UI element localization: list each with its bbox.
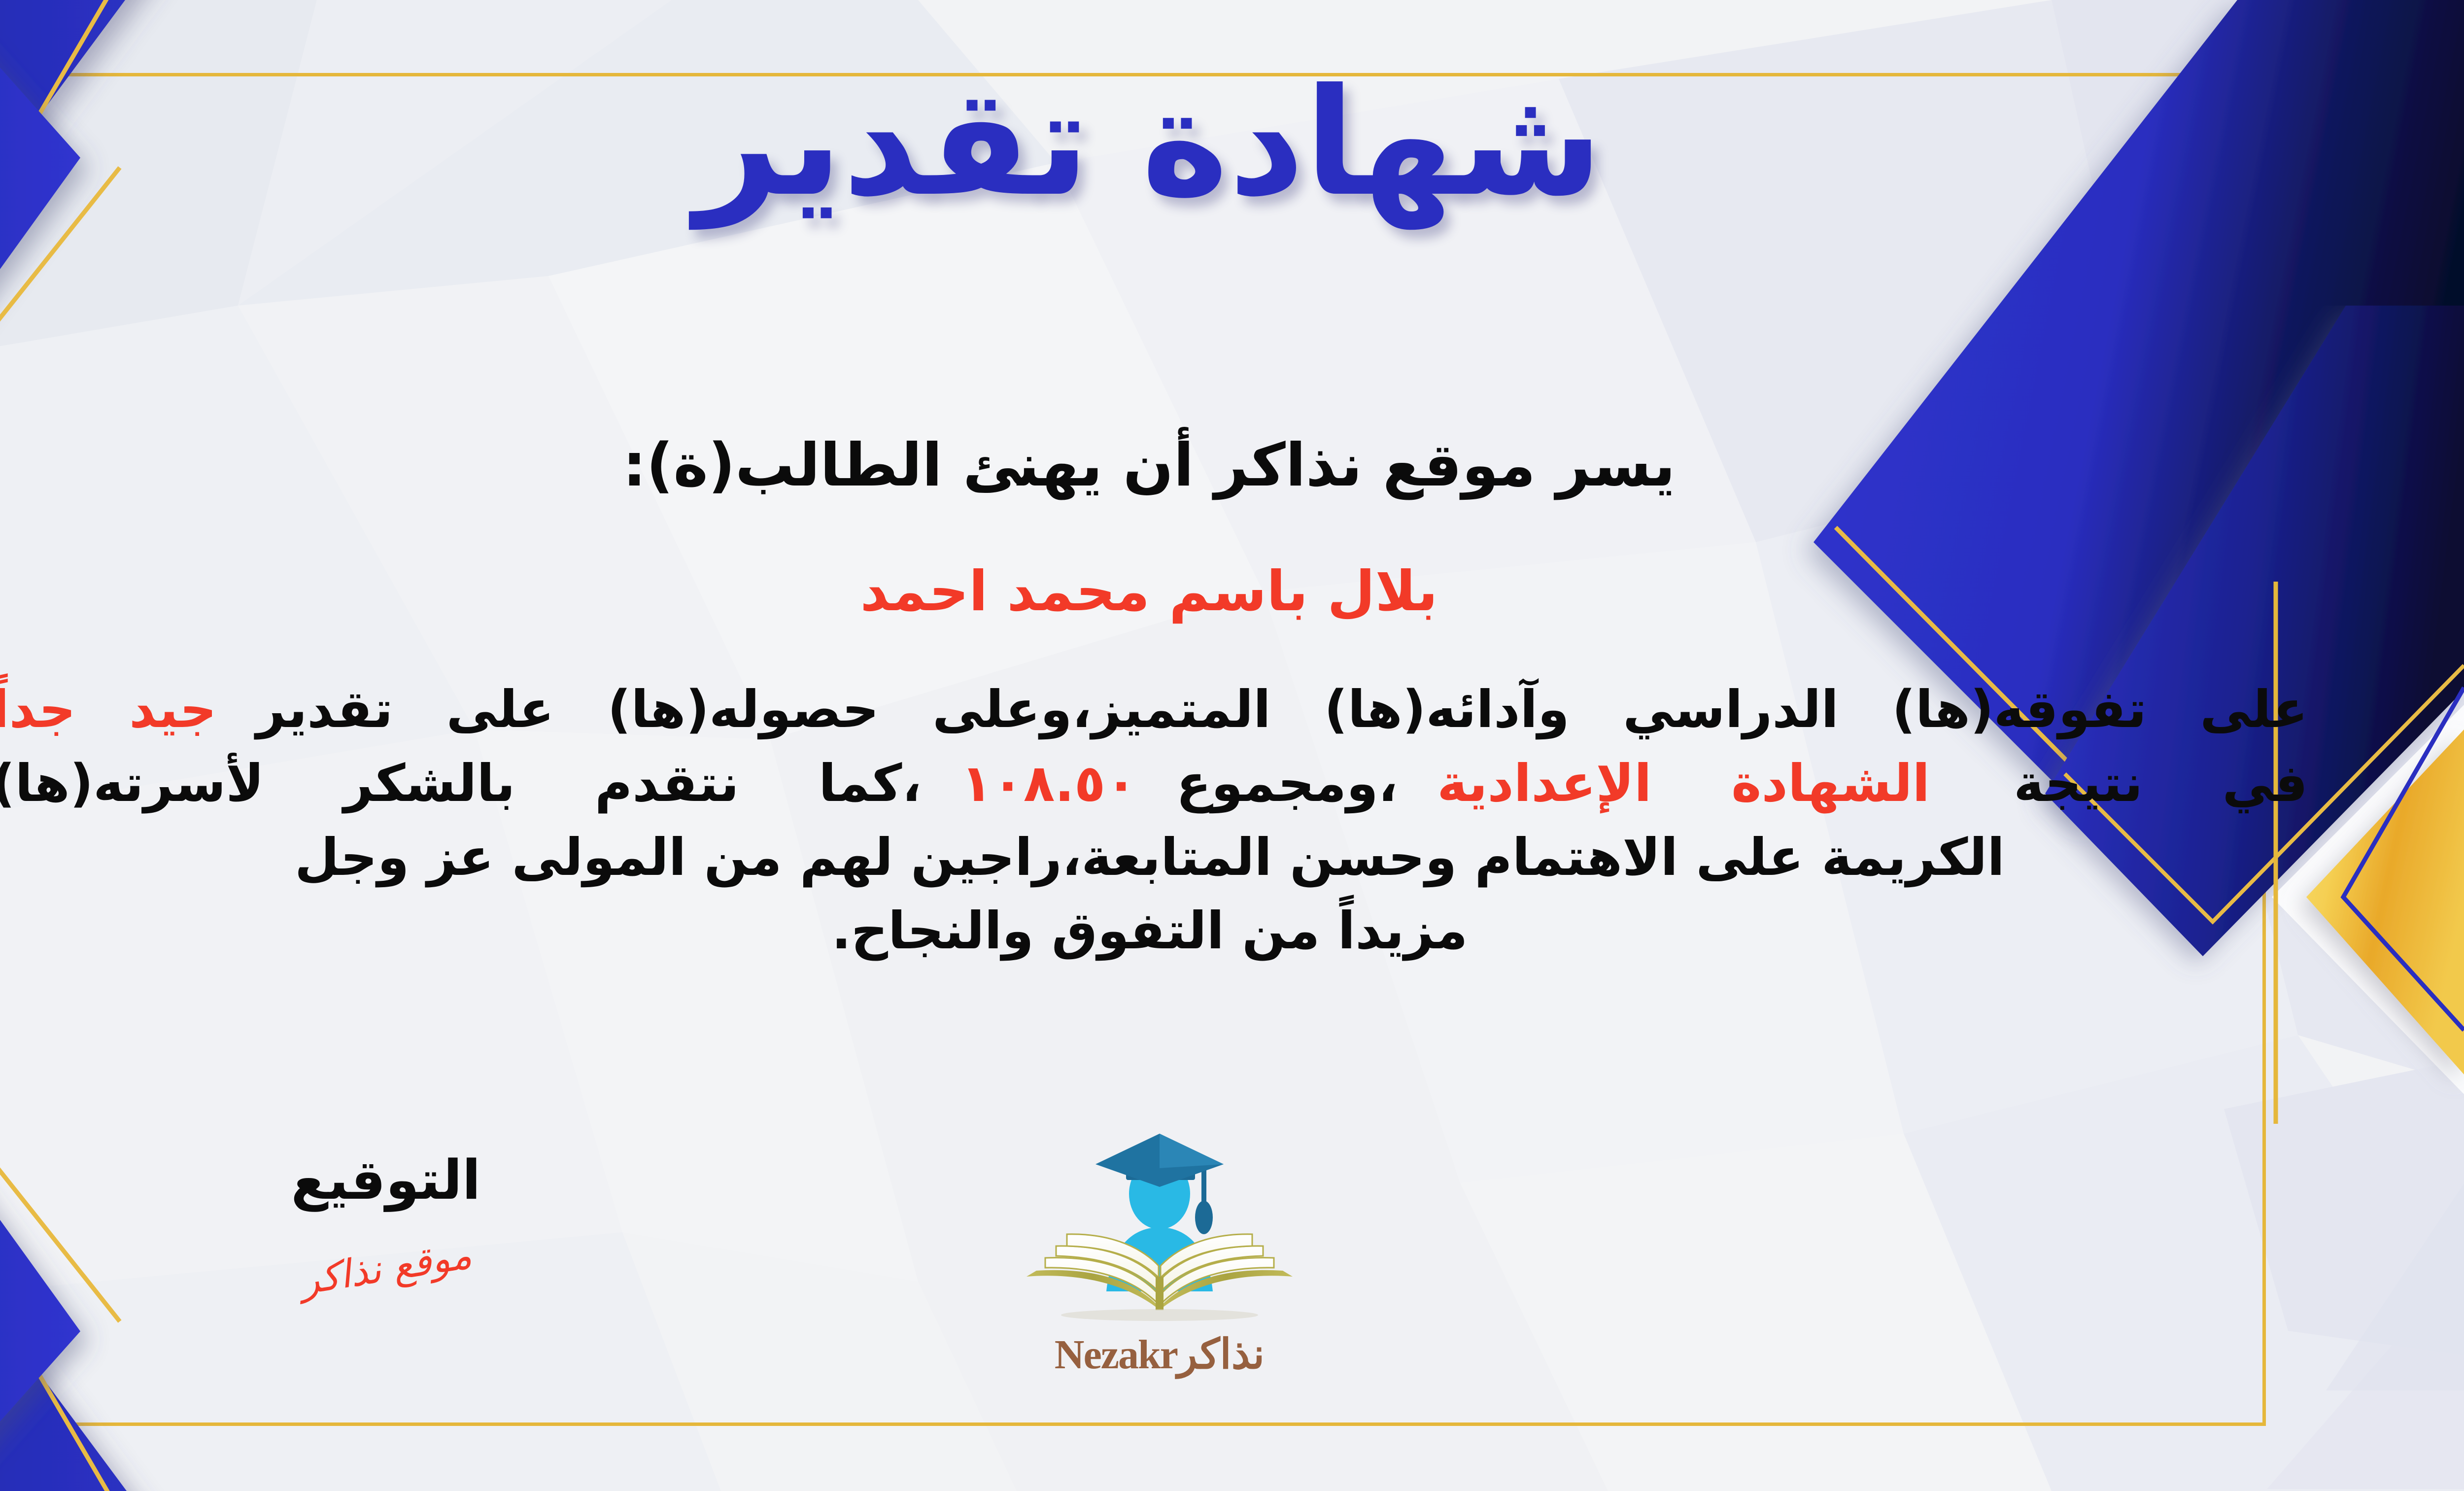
brand-logo-block: نذاكرNezakr xyxy=(962,1129,1357,1379)
brand-wordmark: نذاكرNezakr xyxy=(962,1330,1357,1379)
grade-value: جيد جداً xyxy=(0,679,217,739)
signature-mark: موقع نذاكر xyxy=(232,1222,540,1314)
body-line-3: الكريمة على الاهتمام وحسن المتابعة،راجين… xyxy=(0,821,2308,895)
body-line-2-mid: ،ومجموع xyxy=(1176,753,1398,813)
congratulation-line: يسر موقع نذاكر أن يهنئ الطالب(ة): xyxy=(0,431,2464,500)
body-line-2-prefix: في نتيجة xyxy=(2014,753,2308,813)
certificate-content: شهادة تقدير يسر موقع نذاكر أن يهنئ الطال… xyxy=(0,0,2464,1491)
body-line-1: على تفوقه(ها) الدراسي وآدائه(ها) المتميز… xyxy=(0,673,2308,747)
total-score: ١٠٨.٥٠ xyxy=(961,753,1137,813)
signature-block: التوقيع موقع نذاكر xyxy=(233,1148,539,1290)
exam-name: الشهادة الإعدادية xyxy=(1437,753,1930,813)
brand-name-ar: نذاكر xyxy=(1177,1332,1265,1378)
body-line-4: مزيداً من التفوق والنجاح. xyxy=(0,894,2308,968)
brand-name-en: Nezakr xyxy=(1055,1332,1177,1378)
student-name: بلال باسم محمد احمد xyxy=(0,559,2464,624)
certificate-canvas: شهادة تقدير يسر موقع نذاكر أن يهنئ الطال… xyxy=(0,0,2464,1491)
body-line-2: في نتيجةالشهادة الإعدادية،ومجموع١٠٨.٥٠،ك… xyxy=(0,747,2308,821)
certificate-body: على تفوقه(ها) الدراسي وآدائه(ها) المتميز… xyxy=(0,673,2308,968)
body-line-2-suffix: ،كما نتقدم بالشكر لأسرته(ها) xyxy=(0,753,922,813)
certificate-title: شهادة تقدير xyxy=(0,69,2464,217)
body-line-1-text: على تفوقه(ها) الدراسي وآدائه(ها) المتميز… xyxy=(256,679,2308,739)
graduation-book-icon xyxy=(1007,1318,1312,1328)
signature-label: التوقيع xyxy=(233,1148,539,1212)
